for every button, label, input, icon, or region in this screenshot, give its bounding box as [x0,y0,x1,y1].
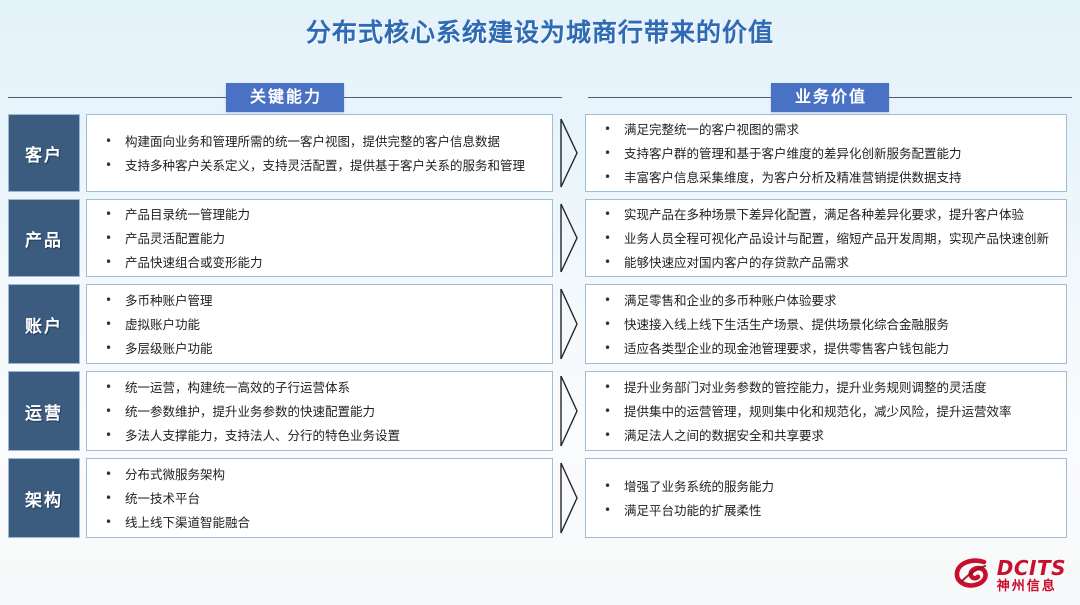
capability-bullet: •分布式微服务架构 [99,462,542,486]
bullet-dot-icon: • [99,403,125,420]
dcits-swirl-icon [954,557,990,593]
value-bullet: •快速接入线上线下生活生产场景、提供场景化综合金融服务 [598,312,1056,336]
capability-bullet: •虚拟账户功能 [99,312,542,336]
bullet-dot-icon: • [598,340,624,357]
bullet-dot-icon: • [99,292,125,309]
bullet-dot-icon: • [598,145,624,162]
chevron-right-icon [553,284,585,364]
value-bullet: •能够快速应对国内客户的存贷款产品需求 [598,250,1056,274]
capability-bullet: •多层级账户功能 [99,336,542,360]
chevron-right-icon [553,371,585,451]
value-bullet: •提供集中的运营管理，规则集中化和规范化，减少风险，提升运营效率 [598,399,1056,423]
value-bullet: •业务人员全程可视化产品设计与配置，缩短产品开发周期，实现产品快速创新 [598,226,1056,250]
capability-panel: •统一运营，构建统一高效的子行运营体系•统一参数维护，提升业务参数的快速配置能力… [86,371,553,451]
column-header-left: 关键能力 [8,82,562,112]
bullet-dot-icon: • [99,230,125,247]
capability-bullet: •产品快速组合或变形能力 [99,250,542,274]
capability-bullet: •线上线下渠道智能融合 [99,510,542,534]
bullet-text: 快速接入线上线下生活生产场景、提供场景化综合金融服务 [624,316,1056,333]
logo-name-en: DCITS [997,558,1066,578]
bullet-text: 满足平台功能的扩展柔性 [624,502,1056,519]
brand-logo: DCITS 神州信息 [954,557,1066,593]
bullet-dot-icon: • [99,133,125,150]
bullet-dot-icon: • [598,478,624,495]
bullet-text: 丰富客户信息采集维度，为客户分析及精准营销提供数据支持 [624,169,1056,186]
bullet-text: 支持客户群的管理和基于客户维度的差异化创新服务配置能力 [624,145,1056,162]
rows-container: 客户•构建面向业务和管理所需的统一客户视图，提供完整的客户信息数据•支持多种客户… [0,114,1080,545]
value-bullet: •适应各类型企业的现金池管理要求，提供零售客户钱包能力 [598,336,1056,360]
bullet-text: 实现产品在多种场景下差异化配置，满足各种差异化要求，提升客户体验 [624,206,1056,223]
bullet-dot-icon: • [598,121,624,138]
header-rule-right-2 [889,97,1072,98]
chevron-right-icon [553,114,585,192]
capability-bullet: •统一参数维护，提升业务参数的快速配置能力 [99,399,542,423]
logo-wordmark: DCITS 神州信息 [997,558,1066,593]
title-band: 分布式核心系统建设为城商行带来的价值 [0,0,1080,62]
header-rule-left-2 [344,97,562,98]
capability-bullet: •多币种账户管理 [99,288,542,312]
capability-panel: •构建面向业务和管理所需的统一客户视图，提供完整的客户信息数据•支持多种客户关系… [86,114,553,192]
bullet-dot-icon: • [598,254,624,271]
header-rule-left [8,97,226,98]
capability-bullet: •统一技术平台 [99,486,542,510]
bullet-dot-icon: • [99,514,125,531]
bullet-text: 分布式微服务架构 [125,466,542,483]
bullet-text: 满足完整统一的客户视图的需求 [624,121,1056,138]
bullet-text: 能够快速应对国内客户的存贷款产品需求 [624,254,1056,271]
bullet-text: 提升业务部门对业务参数的管控能力，提升业务规则调整的灵活度 [624,379,1056,396]
bullet-dot-icon: • [598,206,624,223]
bullet-dot-icon: • [99,427,125,444]
bullet-dot-icon: • [99,490,125,507]
bullet-text: 满足法人之间的数据安全和共享要求 [624,427,1056,444]
value-bullet: •提升业务部门对业务参数的管控能力，提升业务规则调整的灵活度 [598,375,1056,399]
bullet-text: 虚拟账户功能 [125,316,542,333]
header-chip-values: 业务价值 [771,83,889,112]
value-panel: •实现产品在多种场景下差异化配置，满足各种差异化要求，提升客户体验•业务人员全程… [585,199,1067,277]
bullet-text: 统一技术平台 [125,490,542,507]
capability-row: 账户•多币种账户管理•虚拟账户功能•多层级账户功能•满足零售和企业的多币种账户体… [0,284,1080,364]
bullet-text: 产品灵活配置能力 [125,230,542,247]
bullet-dot-icon: • [99,379,125,396]
capability-bullet: •支持多种客户关系定义，支持灵活配置，提供基于客户关系的服务和管理 [99,153,542,177]
bullet-dot-icon: • [99,466,125,483]
value-bullet: •实现产品在多种场景下差异化配置，满足各种差异化要求，提升客户体验 [598,202,1056,226]
bullet-text: 产品目录统一管理能力 [125,206,542,223]
bullet-dot-icon: • [598,502,624,519]
value-panel: •满足完整统一的客户视图的需求•支持客户群的管理和基于客户维度的差异化创新服务配… [585,114,1067,192]
header-chip-capabilities: 关键能力 [226,83,344,112]
header-rule-right [588,97,771,98]
bullet-dot-icon: • [99,254,125,271]
bullet-text: 统一参数维护，提升业务参数的快速配置能力 [125,403,542,420]
value-bullet: •满足完整统一的客户视图的需求 [598,117,1056,141]
value-panel: •满足零售和企业的多币种账户体验要求•快速接入线上线下生活生产场景、提供场景化综… [585,284,1067,364]
bullet-text: 提供集中的运营管理，规则集中化和规范化，减少风险，提升运营效率 [624,403,1056,420]
category-badge[interactable]: 架构 [8,458,80,538]
value-bullet: •丰富客户信息采集维度，为客户分析及精准营销提供数据支持 [598,165,1056,189]
capability-bullet: •多法人支撑能力，支持法人、分行的特色业务设置 [99,423,542,447]
bullet-text: 满足零售和企业的多币种账户体验要求 [624,292,1056,309]
bullet-text: 构建面向业务和管理所需的统一客户视图，提供完整的客户信息数据 [125,133,542,150]
bullet-dot-icon: • [598,427,624,444]
category-badge[interactable]: 客户 [8,114,80,192]
bullet-text: 多层级账户功能 [125,340,542,357]
capability-panel: •产品目录统一管理能力•产品灵活配置能力•产品快速组合或变形能力 [86,199,553,277]
value-panel: •提升业务部门对业务参数的管控能力，提升业务规则调整的灵活度•提供集中的运营管理… [585,371,1067,451]
bullet-dot-icon: • [598,169,624,186]
value-bullet: •满足法人之间的数据安全和共享要求 [598,423,1056,447]
capability-row: 客户•构建面向业务和管理所需的统一客户视图，提供完整的客户信息数据•支持多种客户… [0,114,1080,192]
capability-row: 运营•统一运营，构建统一高效的子行运营体系•统一参数维护，提升业务参数的快速配置… [0,371,1080,451]
bullet-text: 线上线下渠道智能融合 [125,514,542,531]
capability-bullet: •产品目录统一管理能力 [99,202,542,226]
value-bullet: •增强了业务系统的服务能力 [598,474,1056,498]
bullet-text: 业务人员全程可视化产品设计与配置，缩短产品开发周期，实现产品快速创新 [624,230,1056,247]
category-badge[interactable]: 产品 [8,199,80,277]
chevron-right-icon [553,458,585,538]
capability-panel: •多币种账户管理•虚拟账户功能•多层级账户功能 [86,284,553,364]
value-panel: •增强了业务系统的服务能力•满足平台功能的扩展柔性 [585,458,1067,538]
column-header-right: 业务价值 [588,82,1072,112]
category-badge[interactable]: 账户 [8,284,80,364]
bullet-text: 增强了业务系统的服务能力 [624,478,1056,495]
bullet-dot-icon: • [598,316,624,333]
bullet-dot-icon: • [99,157,125,174]
bullet-dot-icon: • [598,403,624,420]
bullet-text: 产品快速组合或变形能力 [125,254,542,271]
capability-panel: •分布式微服务架构•统一技术平台•线上线下渠道智能融合 [86,458,553,538]
bullet-text: 适应各类型企业的现金池管理要求，提供零售客户钱包能力 [624,340,1056,357]
value-bullet: •支持客户群的管理和基于客户维度的差异化创新服务配置能力 [598,141,1056,165]
bullet-text: 多法人支撑能力，支持法人、分行的特色业务设置 [125,427,542,444]
bullet-text: 统一运营，构建统一高效的子行运营体系 [125,379,542,396]
value-bullet: •满足平台功能的扩展柔性 [598,498,1056,522]
value-bullet: •满足零售和企业的多币种账户体验要求 [598,288,1056,312]
bullet-text: 支持多种客户关系定义，支持灵活配置，提供基于客户关系的服务和管理 [125,157,542,174]
page-title: 分布式核心系统建设为城商行带来的价值 [306,13,774,49]
bullet-dot-icon: • [99,340,125,357]
bullet-dot-icon: • [598,379,624,396]
bullet-dot-icon: • [99,316,125,333]
bullet-dot-icon: • [598,292,624,309]
capability-bullet: •统一运营，构建统一高效的子行运营体系 [99,375,542,399]
capability-bullet: •构建面向业务和管理所需的统一客户视图，提供完整的客户信息数据 [99,129,542,153]
capability-row: 架构•分布式微服务架构•统一技术平台•线上线下渠道智能融合•增强了业务系统的服务… [0,458,1080,538]
column-headers: 关键能力 业务价值 [0,82,1080,112]
bullet-text: 多币种账户管理 [125,292,542,309]
capability-bullet: •产品灵活配置能力 [99,226,542,250]
slide-root: 分布式核心系统建设为城商行带来的价值 关键能力 业务价值 客户•构建面向业务和管… [0,0,1080,605]
capability-row: 产品•产品目录统一管理能力•产品灵活配置能力•产品快速组合或变形能力•实现产品在… [0,199,1080,277]
chevron-right-icon [553,199,585,277]
logo-name-cn: 神州信息 [997,580,1066,593]
bullet-dot-icon: • [598,230,624,247]
category-badge[interactable]: 运营 [8,371,80,451]
bullet-dot-icon: • [99,206,125,223]
